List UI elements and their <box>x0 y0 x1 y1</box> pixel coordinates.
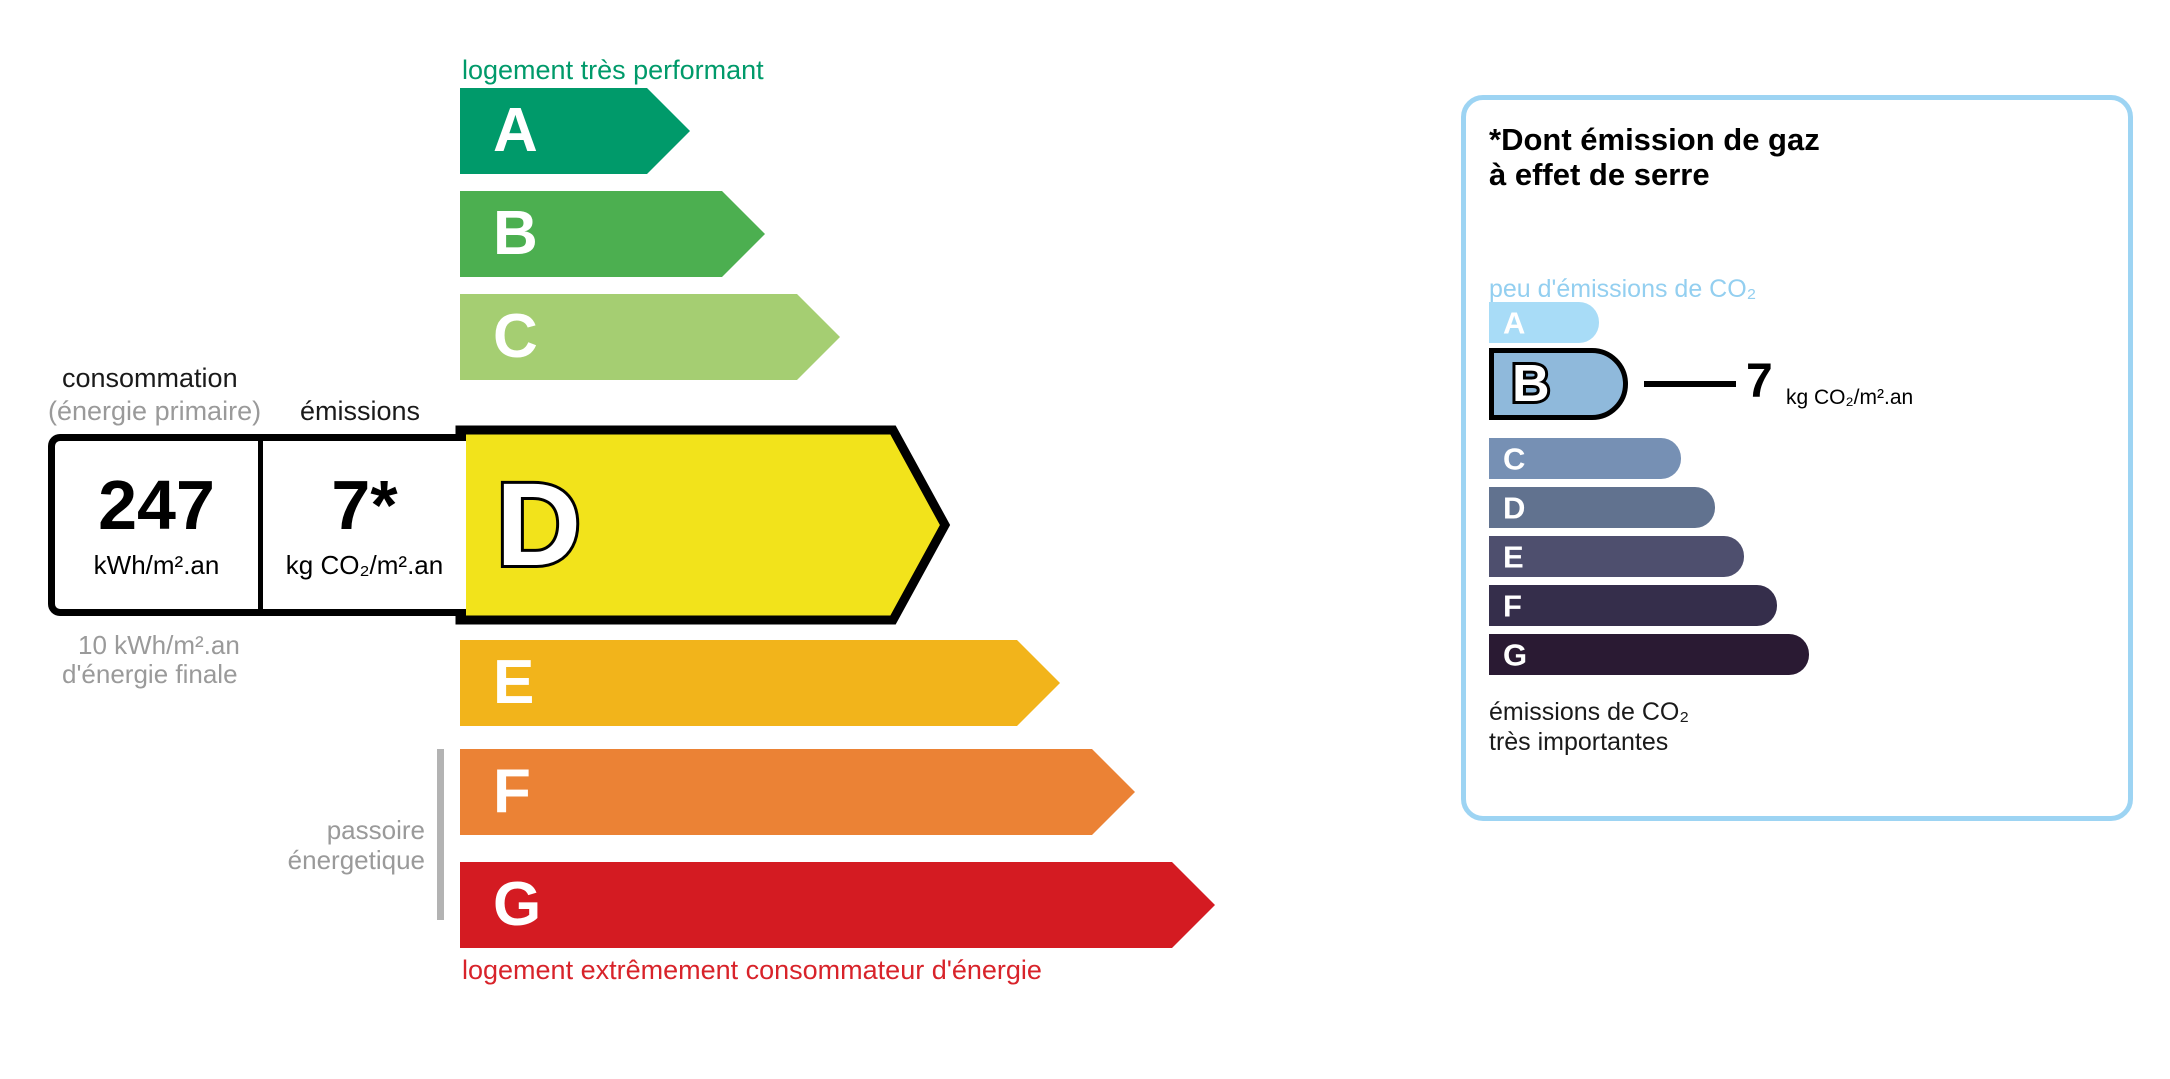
consumption-unit: kWh/m².an <box>94 550 220 581</box>
passoire-label-line1: passoire <box>327 815 425 846</box>
consumption-value: 247 <box>98 470 215 540</box>
consumption-sublabel: (énergie primaire) <box>48 396 261 427</box>
co2-bar-letter: D <box>1503 492 1525 523</box>
emissions-label: émissions <box>300 396 420 427</box>
co2-bar-d: D <box>1489 487 1715 528</box>
energy-band-letter: A <box>493 100 538 162</box>
energy-band-c: C <box>460 294 538 380</box>
co2-bar-letter: B <box>1512 358 1550 410</box>
emissions-unit: kg CO₂/m².an <box>286 550 443 581</box>
scale-bottom-caption: logement extrêmement consommateur d'éner… <box>462 955 1042 986</box>
energy-band-letter: D <box>496 466 581 584</box>
co2-top-caption: peu d'émissions de CO₂ <box>1489 275 1756 304</box>
co2-bar-e: E <box>1489 536 1744 577</box>
final-energy-line1: 10 kWh/m².an <box>78 630 240 661</box>
emissions-value: 7* <box>331 470 397 540</box>
energy-band-d: D <box>460 430 581 620</box>
co2-bar-a: A <box>1489 302 1599 343</box>
co2-bar-c: C <box>1489 438 1681 479</box>
value-box: 247 kWh/m².an 7* kg CO₂/m².an <box>48 434 466 616</box>
emissions-cell: 7* kg CO₂/m².an <box>263 441 466 609</box>
co2-panel-title: *Dont émission de gaz à effet de serre <box>1489 122 1820 192</box>
co2-unit: kg CO₂/m².an <box>1786 387 1913 408</box>
co2-bar-g: G <box>1489 634 1809 675</box>
final-energy-line2: d'énergie finale <box>62 659 238 690</box>
energy-band-letter: F <box>493 761 531 823</box>
co2-leader-line <box>1644 381 1736 387</box>
passoire-label-line2: énergetique <box>288 845 425 876</box>
dpe-diagram: logement très performant ABCDEFG consomm… <box>0 0 2170 1079</box>
co2-value: 7 <box>1746 358 1773 406</box>
co2-bar-letter: G <box>1503 639 1527 670</box>
energy-band-letter: C <box>493 306 538 368</box>
energy-band-letter: G <box>493 874 541 936</box>
co2-bar-letter: C <box>1503 443 1525 474</box>
energy-band-b: B <box>460 191 538 277</box>
co2-bar-letter: A <box>1503 307 1525 338</box>
energy-band-letter: E <box>493 652 534 714</box>
energy-band-e: E <box>460 640 534 726</box>
scale-top-caption: logement très performant <box>462 55 764 86</box>
energy-band-a: A <box>460 88 538 174</box>
co2-bar-letter: F <box>1503 590 1522 621</box>
energy-band-f: F <box>460 749 531 835</box>
co2-bar-f: F <box>1489 585 1777 626</box>
energy-band-g: G <box>460 862 541 948</box>
co2-bottom-caption: émissions de CO₂ très importantes <box>1489 697 1689 757</box>
energy-band-letter: B <box>493 203 538 265</box>
co2-bar-b: B <box>1489 348 1628 420</box>
co2-bar-letter: E <box>1503 541 1524 572</box>
consumption-cell: 247 kWh/m².an <box>55 441 263 609</box>
passoire-divider <box>437 749 444 920</box>
consumption-label: consommation <box>62 363 238 394</box>
